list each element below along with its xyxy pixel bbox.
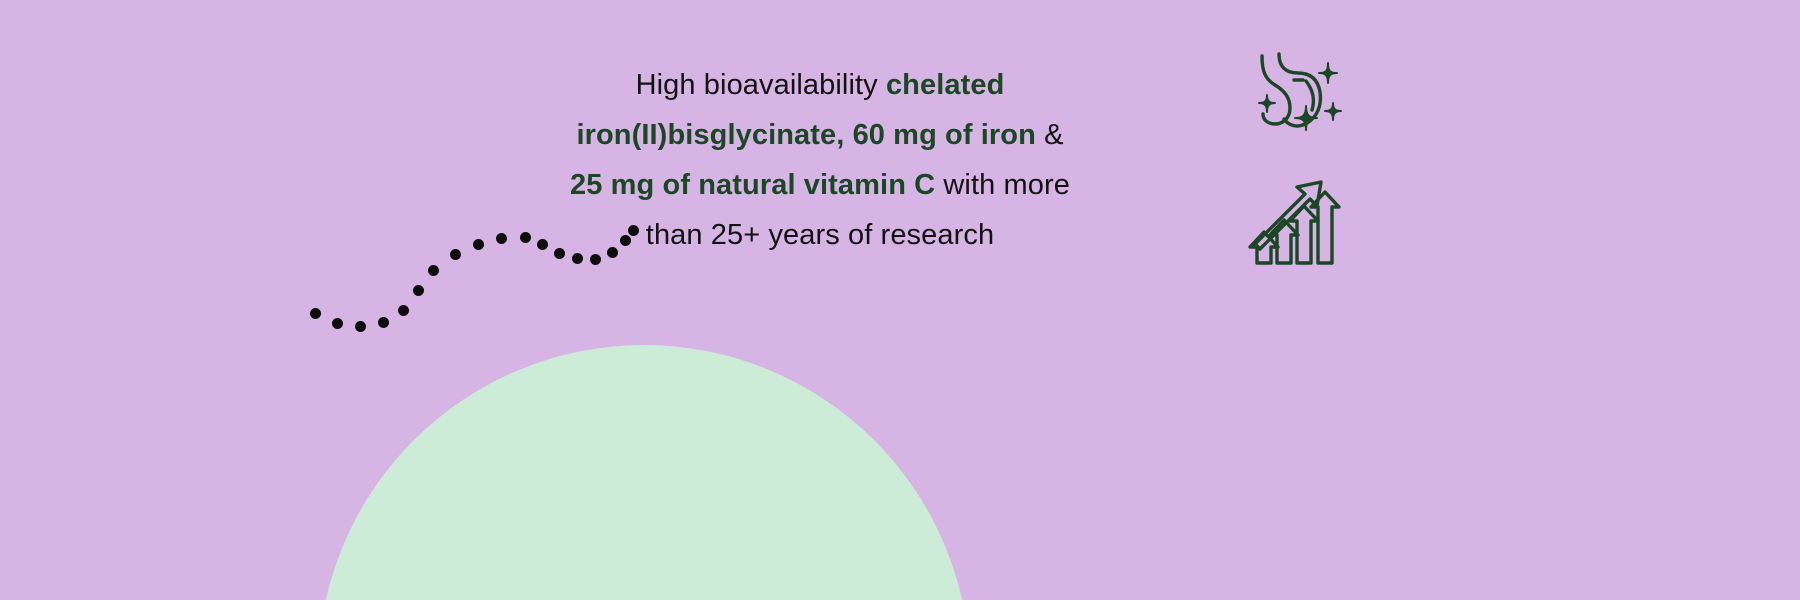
wave-dot [310, 308, 321, 319]
wave-dot [398, 305, 409, 316]
mint-circle-decoration [318, 345, 970, 600]
wave-dot [537, 239, 548, 250]
wave-dot [520, 232, 531, 243]
wave-dot [355, 321, 366, 332]
wave-dot [473, 239, 484, 250]
wave-dot [428, 265, 439, 276]
headline-text: High bioavailability [636, 69, 886, 101]
wave-dot [378, 317, 389, 328]
headline-copy: High bioavailability chelated iron(II)bi… [560, 60, 1080, 260]
stomach-sparkle-icon [1245, 40, 1355, 150]
headline-highlight: 25 mg of natural vitamin C [570, 169, 935, 201]
wave-dot [450, 249, 461, 260]
wave-dot [332, 318, 343, 329]
benefit-icon-column [1245, 40, 1365, 296]
wave-dot [496, 233, 507, 244]
headline-text: & [1036, 119, 1064, 151]
growth-arrows-icon [1245, 168, 1355, 278]
product-benefit-banner: High bioavailability chelated iron(II)bi… [0, 0, 1800, 600]
wave-dot [413, 285, 424, 296]
